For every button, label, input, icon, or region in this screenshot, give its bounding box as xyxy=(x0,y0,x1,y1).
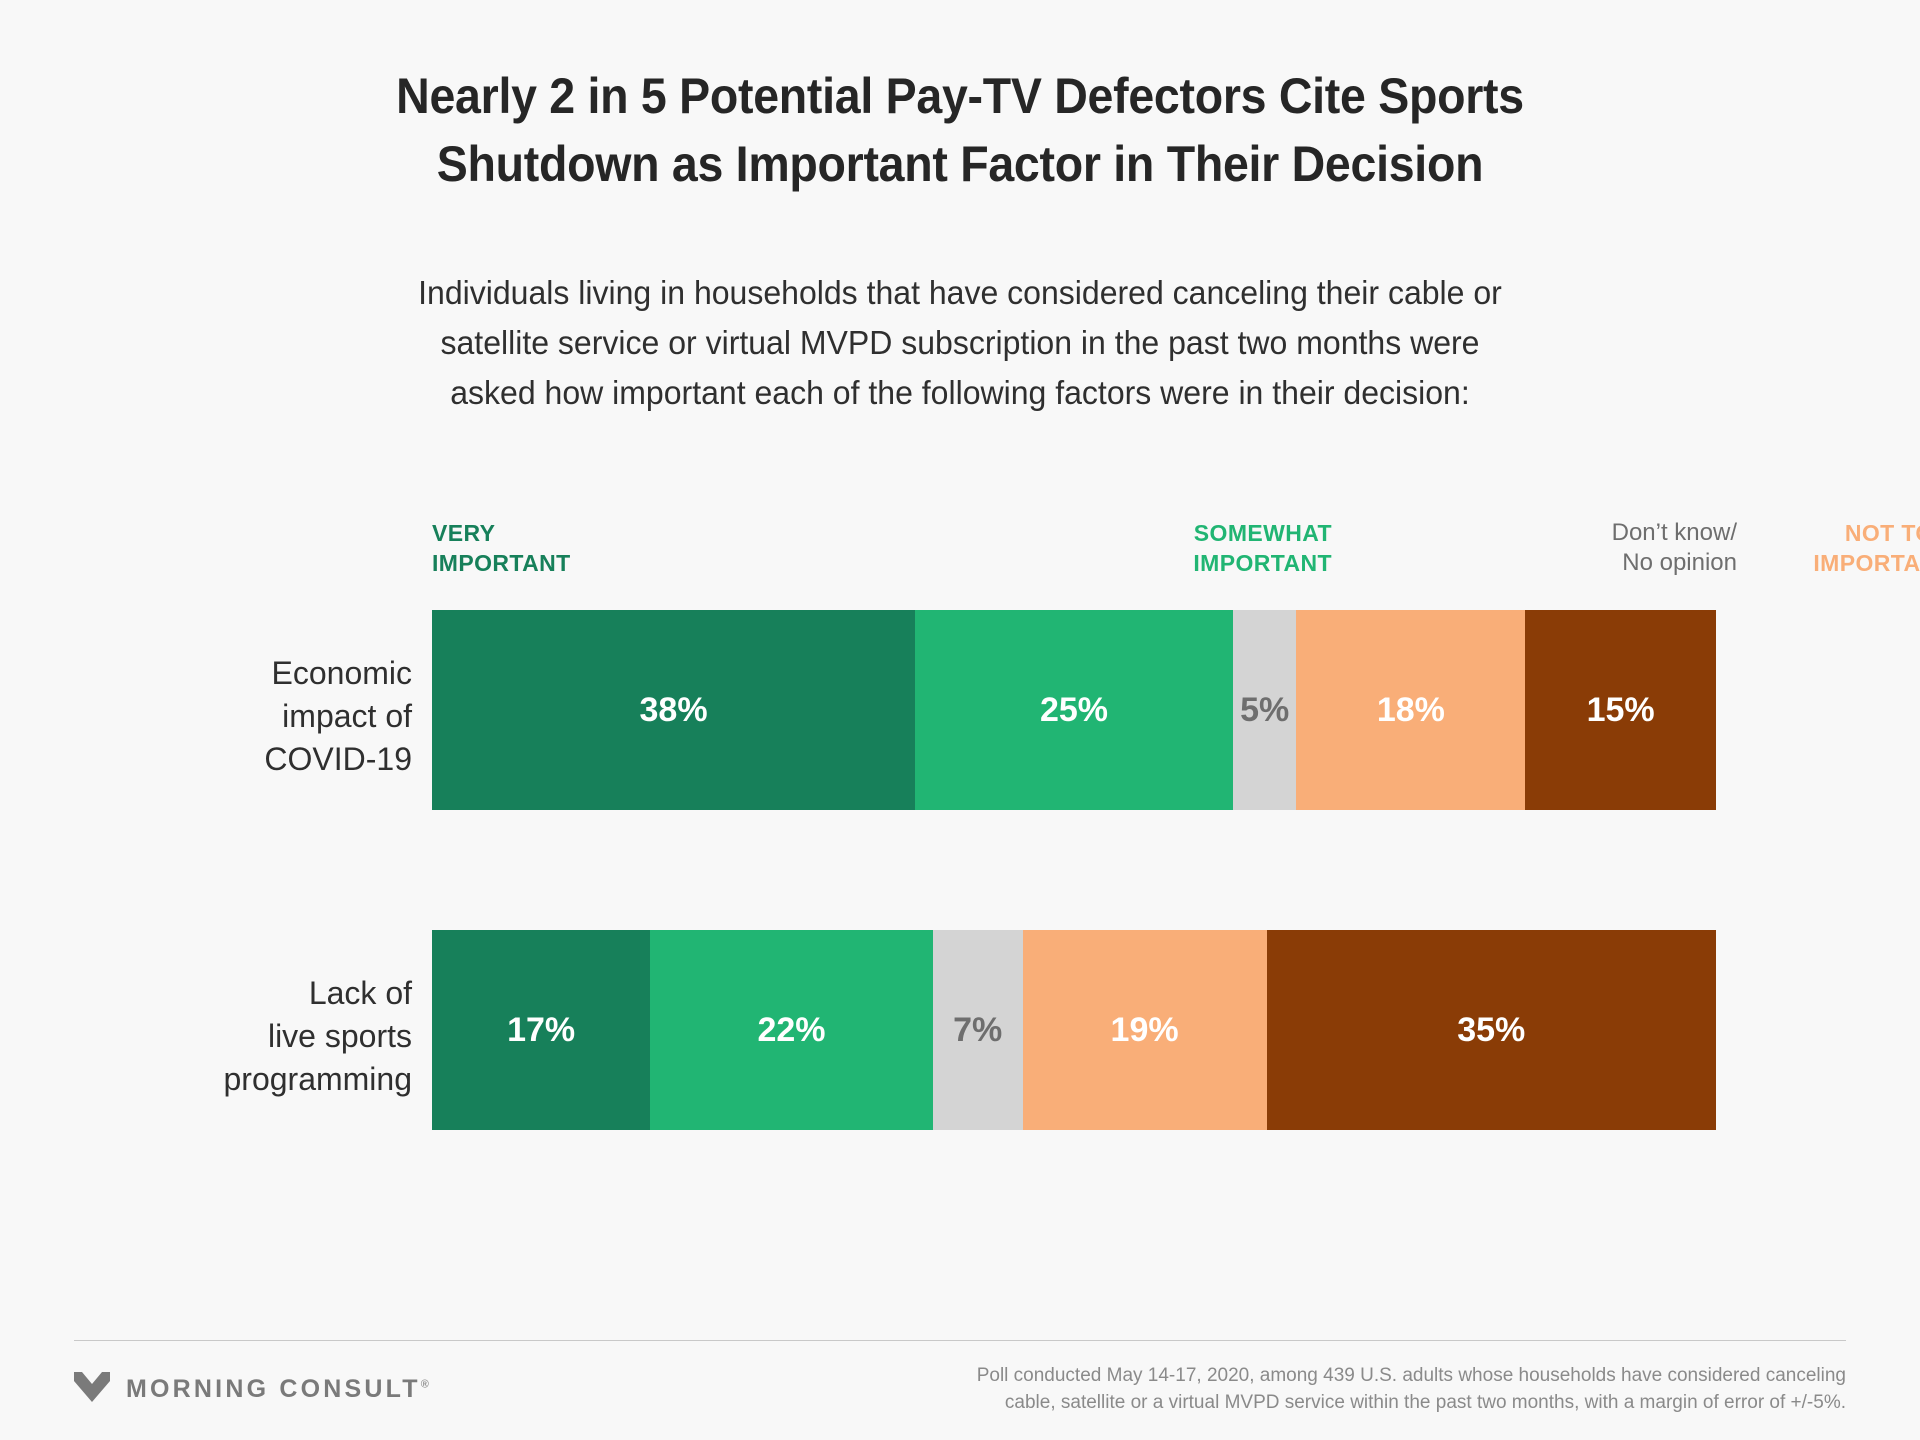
footnote-line-2: cable, satellite or a virtual MVPD servi… xyxy=(726,1389,1846,1416)
row-label-line-3: programming xyxy=(82,1058,412,1101)
row-label-line-3: COVID-19 xyxy=(82,738,412,781)
brand-name: MORNING CONSULT xyxy=(126,1375,421,1403)
bar-row-label-economic-impact: Economic impact of COVID-19 xyxy=(82,652,412,781)
legend-label-line-2: IMPORTANT xyxy=(432,548,571,578)
chevron-logo-icon xyxy=(74,1372,110,1407)
chart-canvas: Nearly 2 in 5 Potential Pay-TV Defectors… xyxy=(0,0,1920,1440)
legend-label-line-2: IMPORTANT xyxy=(1316,548,1920,578)
segment-dont-know: 5% xyxy=(1233,610,1297,810)
legend-item-very-important: VERY IMPORTANT xyxy=(432,518,571,578)
segment-very-important: 17% xyxy=(432,930,650,1130)
segment-not-too-important: 18% xyxy=(1296,610,1525,810)
footnote-line-1: Poll conducted May 14-17, 2020, among 43… xyxy=(726,1362,1846,1389)
bar-row: 38%25%5%18%15% xyxy=(432,610,1716,810)
segment-not-at-all-important: 35% xyxy=(1267,930,1716,1130)
segment-not-at-all-important: 15% xyxy=(1525,610,1716,810)
row-label-line-2: impact of xyxy=(82,695,412,738)
legend-label-line-1: VERY xyxy=(432,518,571,548)
segment-value-label: 18% xyxy=(1377,691,1445,730)
segment-dont-know: 7% xyxy=(933,930,1023,1130)
segment-value-label: 35% xyxy=(1457,1011,1525,1050)
segment-value-label: 38% xyxy=(640,691,708,730)
row-label-line-1: Lack of xyxy=(82,972,412,1015)
stacked-bar-chart: VERY IMPORTANT SOMEWHAT IMPORTANT Don’t … xyxy=(0,0,1920,1440)
segment-value-label: 15% xyxy=(1587,691,1655,730)
bar-row: 17%22%7%19%35% xyxy=(432,930,1716,1130)
segment-value-label: 5% xyxy=(1240,691,1289,730)
segment-value-label: 17% xyxy=(507,1011,575,1050)
segment-not-too-important: 19% xyxy=(1023,930,1267,1130)
bar-row-label-live-sports: Lack of live sports programming xyxy=(82,972,412,1101)
legend-label-line-1: NOT AT ALL xyxy=(1316,518,1920,548)
segment-value-label: 25% xyxy=(1040,691,1108,730)
segment-value-label: 22% xyxy=(757,1011,825,1050)
legend-item-not-at-all-important: NOT AT ALL IMPORTANT xyxy=(1316,518,1920,578)
row-label-line-1: Economic xyxy=(82,652,412,695)
morning-consult-logo: MORNING CONSULT® xyxy=(74,1372,429,1407)
segment-somewhat-important: 22% xyxy=(650,930,932,1130)
footer-divider xyxy=(74,1340,1846,1341)
chart-legend: VERY IMPORTANT SOMEWHAT IMPORTANT Don’t … xyxy=(432,518,1716,592)
row-label-line-2: live sports xyxy=(82,1015,412,1058)
registered-mark: ® xyxy=(421,1379,429,1391)
segment-very-important: 38% xyxy=(432,610,915,810)
segment-value-label: 19% xyxy=(1111,1011,1179,1050)
segment-value-label: 7% xyxy=(953,1011,1002,1050)
brand-wordmark: MORNING CONSULT® xyxy=(126,1375,429,1404)
poll-footnote: Poll conducted May 14-17, 2020, among 43… xyxy=(726,1362,1846,1416)
segment-somewhat-important: 25% xyxy=(915,610,1233,810)
